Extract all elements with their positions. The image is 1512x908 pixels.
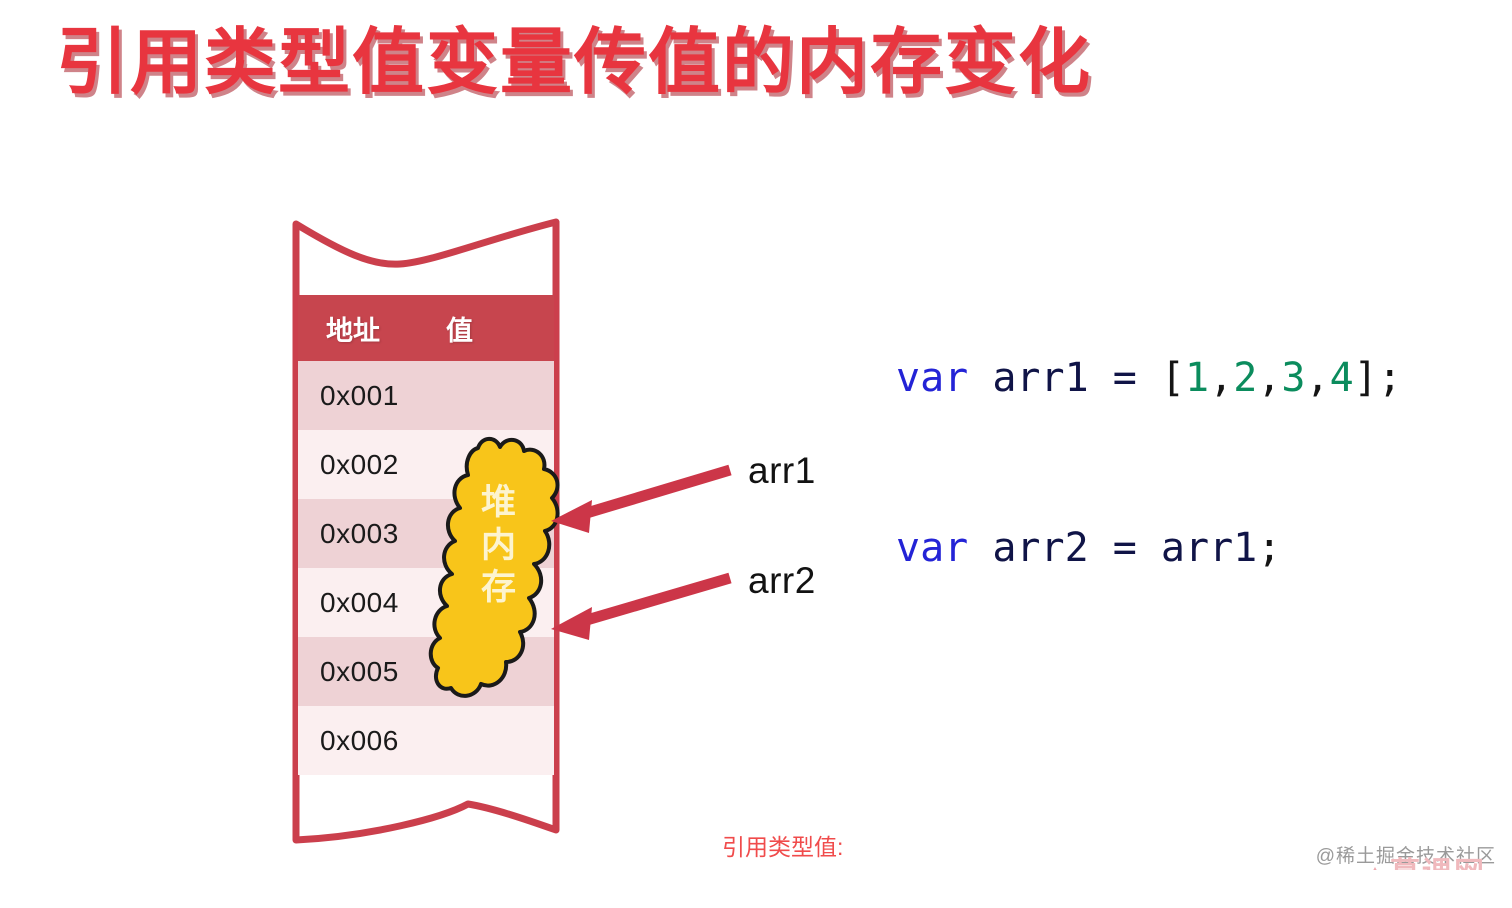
triangle-logo-icon — [1364, 867, 1386, 870]
code-token-keyword: var — [896, 525, 968, 571]
table-row: 0x001 — [298, 361, 554, 430]
heap-memory-blob: 堆内存 — [434, 434, 564, 724]
cell-address: 0x002 — [320, 449, 399, 481]
code-token-comma: , — [1305, 355, 1329, 401]
arrow-arr1 — [551, 470, 730, 533]
page-title: 引用类型值变量传值的内存变化 — [56, 24, 1092, 103]
arrow-label-arr2: arr2 — [748, 560, 816, 602]
cloud-shape-icon — [434, 434, 564, 724]
code-token-number: 1 — [1185, 355, 1209, 401]
code-line: var arr1 = [1,2,3,4]; — [896, 350, 1402, 407]
cell-address: 0x004 — [320, 587, 399, 619]
cell-address: 0x006 — [320, 725, 399, 757]
code-token-bracket-open: [ — [1161, 355, 1185, 401]
explanation-note: 引用类型值: 如果是相同的，是不会进行克隆的，而是指向同一块堆内存 当操作原数组… — [722, 766, 1353, 908]
code-token-number: 3 — [1281, 355, 1305, 401]
watermark: @稀土掘金技术社区 慕课网 — [1316, 841, 1496, 868]
memory-table-header: 地址 值 — [298, 295, 554, 361]
code-block: var arr1 = [1,2,3,4]; var arr2 = arr1; — [896, 236, 1402, 690]
code-token-semicolon: ; — [1257, 525, 1281, 571]
code-token-operator: = — [1089, 525, 1161, 571]
cell-address: 0x003 — [320, 518, 399, 550]
code-token-number: 2 — [1233, 355, 1257, 401]
code-token-identifier: arr1 — [1161, 525, 1257, 571]
code-line: var arr2 = arr1; — [896, 520, 1402, 577]
arrow-arr2 — [551, 578, 730, 640]
code-token-bracket-close: ]; — [1354, 355, 1402, 401]
note-line: 引用类型值: — [722, 831, 1353, 864]
watermark-logo: 慕课网 — [1364, 848, 1486, 870]
column-header-address: 地址 — [326, 309, 446, 348]
cell-address: 0x001 — [320, 380, 399, 412]
code-token-comma: , — [1257, 355, 1281, 401]
slide-canvas: 引用类型值变量传值的内存变化 地址 值 0x001 0x002 0x003 0x… — [0, 0, 1512, 908]
code-token-operator: = — [1089, 355, 1161, 401]
column-header-value: 值 — [446, 309, 473, 348]
code-token-comma: , — [1209, 355, 1233, 401]
code-token-identifier: arr2 — [992, 525, 1088, 571]
code-token-number: 4 — [1330, 355, 1354, 401]
arrow-label-arr1: arr1 — [748, 450, 816, 492]
code-token-keyword: var — [896, 355, 968, 401]
watermark-logo-text: 慕课网 — [1390, 857, 1486, 870]
cell-address: 0x005 — [320, 656, 399, 688]
code-token-identifier: arr1 — [992, 355, 1088, 401]
